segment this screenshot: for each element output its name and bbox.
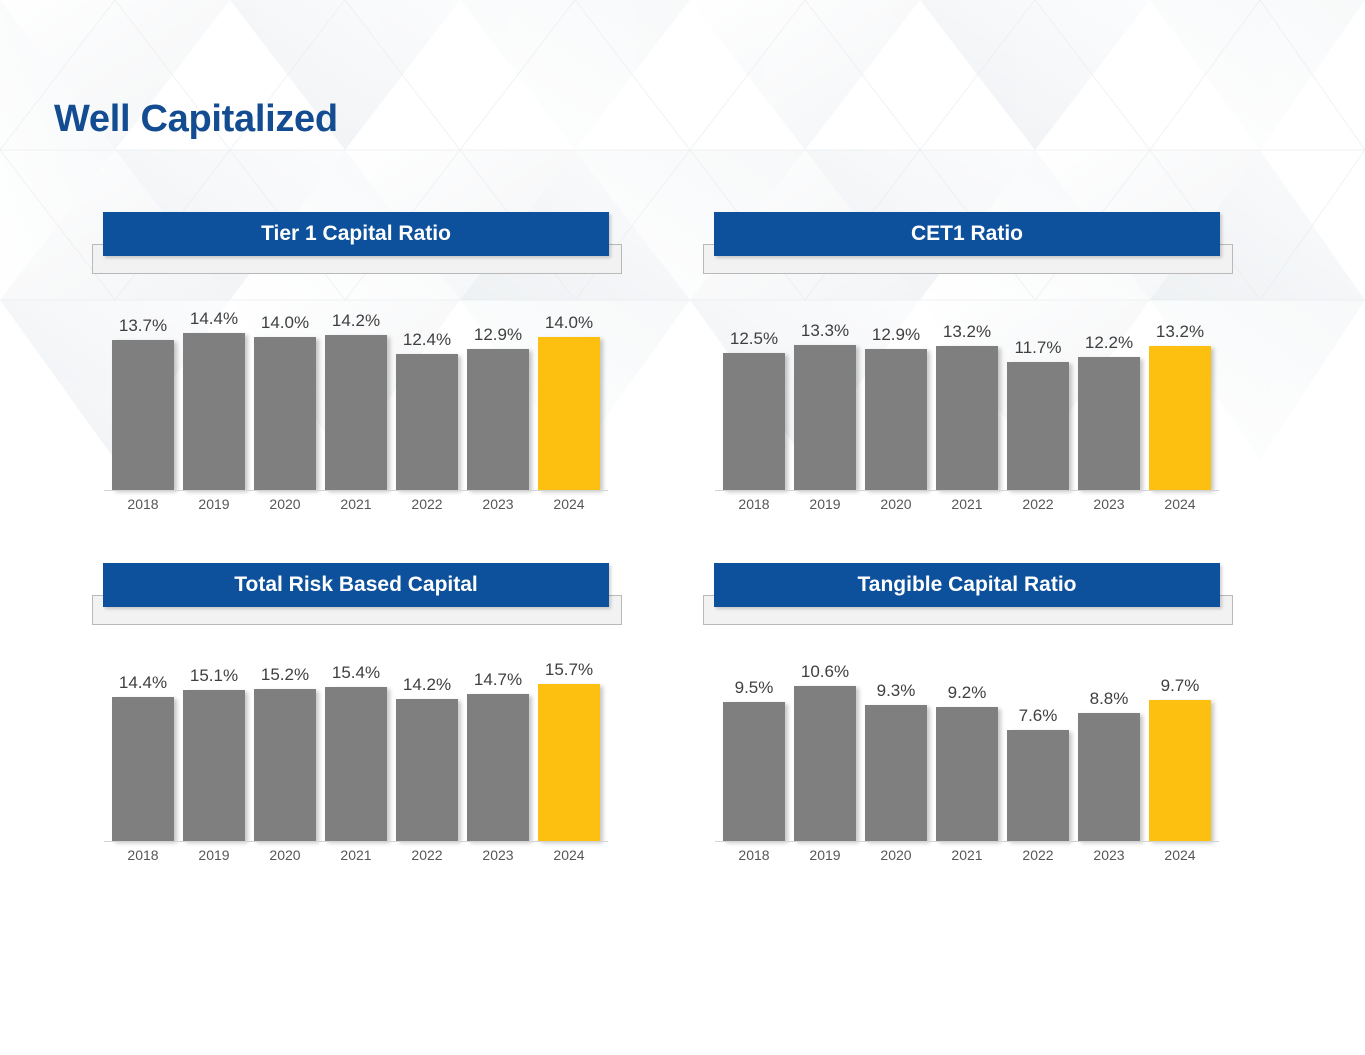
- bar-value-label: 12.5%: [730, 329, 778, 349]
- chart-header-tangible-capital-ratio: Tangible Capital Ratio: [703, 563, 1233, 625]
- bar-value-label: 14.7%: [474, 670, 522, 690]
- bar-group: 14.0%: [538, 284, 600, 490]
- bar-group: 7.6%: [1007, 635, 1069, 841]
- bar-value-label: 14.4%: [119, 673, 167, 693]
- bar-group: 11.7%: [1007, 284, 1069, 490]
- x-axis-tick-label: 2023: [1078, 847, 1140, 863]
- bar-group: 15.1%: [183, 635, 245, 841]
- x-axis-labels: 2018201920202021202220232024: [112, 496, 600, 512]
- bar-value-label: 10.6%: [801, 662, 849, 682]
- bar-group: 14.7%: [467, 635, 529, 841]
- x-axis-tick-label: 2019: [183, 496, 245, 512]
- x-axis-labels: 2018201920202021202220232024: [723, 847, 1211, 863]
- bar-chart-cet1: 12.5%13.3%12.9%13.2%11.7%12.2%13.2% 2018…: [703, 274, 1223, 524]
- bar: [183, 690, 245, 841]
- bar-group: 13.3%: [794, 284, 856, 490]
- bar-chart-tier1: 13.7%14.4%14.0%14.2%12.4%12.9%14.0% 2018…: [92, 274, 612, 524]
- bar-group: 9.7%: [1149, 635, 1211, 841]
- x-axis-labels: 2018201920202021202220232024: [112, 847, 600, 863]
- bar: [723, 353, 785, 490]
- chart-title-tangible-capital-ratio: Tangible Capital Ratio: [714, 563, 1220, 607]
- bar-value-label: 14.0%: [261, 313, 309, 333]
- plot-area: 14.4%15.1%15.2%15.4%14.2%14.7%15.7%: [112, 635, 600, 841]
- bar: [865, 349, 927, 490]
- bar-value-label: 12.9%: [474, 325, 522, 345]
- bar-group: 12.2%: [1078, 284, 1140, 490]
- bar: [1149, 700, 1211, 841]
- bar-group: 12.9%: [865, 284, 927, 490]
- bar-group: 13.2%: [1149, 284, 1211, 490]
- bar-group: 12.9%: [467, 284, 529, 490]
- bar-value-label: 12.2%: [1085, 333, 1133, 353]
- x-axis-tick-label: 2020: [254, 496, 316, 512]
- bar: [538, 337, 600, 490]
- bar-group: 13.2%: [936, 284, 998, 490]
- background-texture: [0, 0, 1365, 1055]
- x-axis-tick-label: 2019: [794, 847, 856, 863]
- x-axis-tick-label: 2021: [325, 847, 387, 863]
- chart-panel-total-risk-based-capital: Total Risk Based Capital 14.4%15.1%15.2%…: [92, 563, 622, 875]
- plot-area: 13.7%14.4%14.0%14.2%12.4%12.9%14.0%: [112, 284, 600, 490]
- bar-value-label: 8.8%: [1090, 689, 1129, 709]
- slide-canvas: Well Capitalized Tier 1 Capital Ratio 13…: [0, 0, 1365, 1055]
- x-axis-tick-label: 2023: [467, 847, 529, 863]
- bar-group: 14.0%: [254, 284, 316, 490]
- bar: [794, 686, 856, 841]
- bar-group: 14.4%: [112, 635, 174, 841]
- bar: [865, 705, 927, 841]
- bar-group: 12.5%: [723, 284, 785, 490]
- x-axis-tick-label: 2024: [538, 496, 600, 512]
- bar-value-label: 15.4%: [332, 663, 380, 683]
- bar-group: 10.6%: [794, 635, 856, 841]
- chart-title-tier1: Tier 1 Capital Ratio: [103, 212, 609, 256]
- x-axis-labels: 2018201920202021202220232024: [723, 496, 1211, 512]
- page-title: Well Capitalized: [54, 98, 338, 141]
- bar-group: 15.2%: [254, 635, 316, 841]
- bar-group: 15.4%: [325, 635, 387, 841]
- x-axis-tick-label: 2024: [538, 847, 600, 863]
- x-axis-tick-label: 2024: [1149, 496, 1211, 512]
- x-axis-line: [715, 490, 1219, 491]
- bar-group: 13.7%: [112, 284, 174, 490]
- bar-value-label: 15.7%: [545, 660, 593, 680]
- bar: [1007, 730, 1069, 841]
- x-axis-line: [104, 490, 608, 491]
- bar: [467, 694, 529, 841]
- bar-group: 9.3%: [865, 635, 927, 841]
- bar: [1149, 346, 1211, 490]
- bar-value-label: 14.2%: [332, 311, 380, 331]
- bar: [254, 689, 316, 841]
- chart-panel-tangible-capital-ratio: Tangible Capital Ratio 9.5%10.6%9.3%9.2%…: [703, 563, 1233, 875]
- bar-value-label: 7.6%: [1019, 706, 1058, 726]
- x-axis-tick-label: 2019: [183, 847, 245, 863]
- bar-value-label: 9.2%: [948, 683, 987, 703]
- bar-value-label: 14.0%: [545, 313, 593, 333]
- bar-group: 9.5%: [723, 635, 785, 841]
- x-axis-tick-label: 2018: [112, 847, 174, 863]
- bar-chart-total-risk-based-capital: 14.4%15.1%15.2%15.4%14.2%14.7%15.7% 2018…: [92, 625, 612, 875]
- bar-value-label: 14.4%: [190, 309, 238, 329]
- x-axis-tick-label: 2023: [1078, 496, 1140, 512]
- bar-value-label: 12.9%: [872, 325, 920, 345]
- x-axis-tick-label: 2022: [1007, 847, 1069, 863]
- bar: [1007, 362, 1069, 490]
- bar-group: 9.2%: [936, 635, 998, 841]
- bar-group: 15.7%: [538, 635, 600, 841]
- x-axis-tick-label: 2018: [112, 496, 174, 512]
- bar-value-label: 13.2%: [943, 322, 991, 342]
- bar-group: 14.2%: [325, 284, 387, 490]
- bar: [396, 699, 458, 841]
- chart-header-tier1: Tier 1 Capital Ratio: [92, 212, 622, 274]
- bar: [112, 340, 174, 490]
- bar: [254, 337, 316, 490]
- bar: [936, 707, 998, 841]
- x-axis-line: [715, 841, 1219, 842]
- plot-area: 9.5%10.6%9.3%9.2%7.6%8.8%9.7%: [723, 635, 1211, 841]
- x-axis-tick-label: 2019: [794, 496, 856, 512]
- bar: [183, 333, 245, 491]
- bar-chart-tangible-capital-ratio: 9.5%10.6%9.3%9.2%7.6%8.8%9.7% 2018201920…: [703, 625, 1223, 875]
- x-axis-tick-label: 2024: [1149, 847, 1211, 863]
- x-axis-tick-label: 2021: [325, 496, 387, 512]
- chart-panel-cet1: CET1 Ratio 12.5%13.3%12.9%13.2%11.7%12.2…: [703, 212, 1233, 524]
- bar-value-label: 13.2%: [1156, 322, 1204, 342]
- chart-header-total-risk-based-capital: Total Risk Based Capital: [92, 563, 622, 625]
- bar-value-label: 15.1%: [190, 666, 238, 686]
- x-axis-tick-label: 2021: [936, 847, 998, 863]
- chart-title-total-risk-based-capital: Total Risk Based Capital: [103, 563, 609, 607]
- x-axis-tick-label: 2018: [723, 496, 785, 512]
- bar-group: 8.8%: [1078, 635, 1140, 841]
- x-axis-tick-label: 2023: [467, 496, 529, 512]
- footer: trico bancshares 50 Tri Counties Bank 19…: [0, 955, 1365, 1055]
- bar: [396, 354, 458, 490]
- bar-value-label: 12.4%: [403, 330, 451, 350]
- bar-value-label: 13.7%: [119, 316, 167, 336]
- x-axis-tick-label: 2020: [254, 847, 316, 863]
- x-axis-tick-label: 2022: [1007, 496, 1069, 512]
- bar: [538, 684, 600, 841]
- plot-area: 12.5%13.3%12.9%13.2%11.7%12.2%13.2%: [723, 284, 1211, 490]
- x-axis-tick-label: 2018: [723, 847, 785, 863]
- chart-panel-tier1: Tier 1 Capital Ratio 13.7%14.4%14.0%14.2…: [92, 212, 622, 524]
- bar: [936, 346, 998, 490]
- bar-value-label: 13.3%: [801, 321, 849, 341]
- bar-group: 14.4%: [183, 284, 245, 490]
- bar-value-label: 14.2%: [403, 675, 451, 695]
- bar-value-label: 11.7%: [1015, 338, 1062, 358]
- bar-group: 14.2%: [396, 635, 458, 841]
- x-axis-tick-label: 2020: [865, 496, 927, 512]
- bar-value-label: 9.5%: [735, 678, 774, 698]
- x-axis-tick-label: 2021: [936, 496, 998, 512]
- bar: [1078, 357, 1140, 490]
- bar-value-label: 9.7%: [1161, 676, 1200, 696]
- bar: [467, 349, 529, 490]
- x-axis-tick-label: 2022: [396, 496, 458, 512]
- chart-title-cet1: CET1 Ratio: [714, 212, 1220, 256]
- bar-group: 12.4%: [396, 284, 458, 490]
- bar: [325, 687, 387, 841]
- bar-value-label: 9.3%: [877, 681, 916, 701]
- x-axis-line: [104, 841, 608, 842]
- bar: [112, 697, 174, 841]
- x-axis-tick-label: 2022: [396, 847, 458, 863]
- bar: [794, 345, 856, 490]
- bar-value-label: 15.2%: [261, 665, 309, 685]
- bar: [325, 335, 387, 490]
- x-axis-tick-label: 2020: [865, 847, 927, 863]
- bar: [1078, 713, 1140, 841]
- chart-header-cet1: CET1 Ratio: [703, 212, 1233, 274]
- bar: [723, 702, 785, 841]
